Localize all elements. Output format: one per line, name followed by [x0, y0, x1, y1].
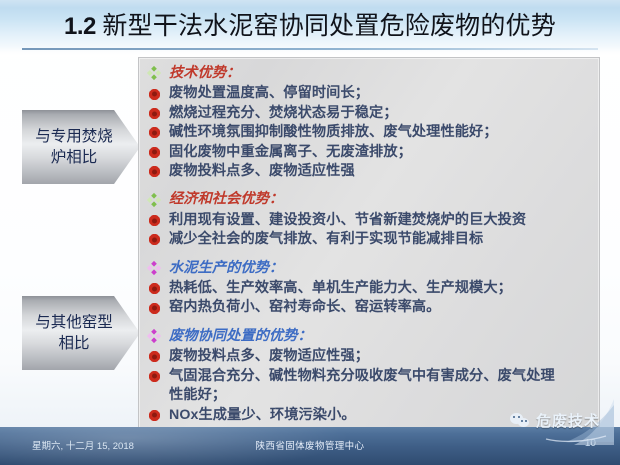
- list-item: 利用现有设置、建设投资小、节省新建焚烧炉的巨大投资: [139, 211, 599, 230]
- magenta-diamond-icon: [147, 329, 161, 343]
- wechat-icon: [510, 413, 531, 429]
- red-flower-bullet-icon: [148, 350, 161, 363]
- list-item-label: 气固混合充分、碱性物料充分吸收废气中有害成分、废气处理: [169, 368, 555, 384]
- red-flower-bullet-icon: [148, 302, 161, 315]
- red-flower-bullet-icon: [148, 107, 161, 120]
- section-heading-cement-production: 水泥生产的优势：: [139, 257, 599, 279]
- section-heading-economic-social: 经济和社会优势：: [139, 188, 599, 210]
- brand-text: 危废技术: [536, 410, 600, 431]
- callout-line-1: 与专用焚烧: [35, 126, 113, 147]
- list-item-label: 燃烧过程充分、焚烧状态易于稳定；: [169, 105, 398, 121]
- list-item: 固化废物中重金属离子、无废渣排放；: [139, 143, 599, 162]
- list-item-label: 窑内热负荷小、窑衬寿命长、窑运转率高。: [169, 299, 440, 315]
- title-text: 新型干法水泥窑协同处置危险废物的优势: [102, 13, 556, 40]
- list-item-label: 性能好；: [169, 387, 226, 403]
- brand-watermark: 危废技术: [488, 399, 614, 445]
- red-flower-bullet-icon: [148, 409, 161, 422]
- list-item: 废物处置温度高、停留时间长；: [139, 84, 599, 103]
- list-item-label: 生成量少、环境污染小。: [198, 407, 355, 423]
- list-item: 热耗低、生产效率高、单机生产能力大、生产规模大；: [139, 279, 599, 298]
- list-item-label: 碱性环境氛围抑制酸性物质排放、废气处理性能好；: [169, 124, 498, 140]
- section-heading-co-processing: 废物协同处置的优势：: [139, 325, 599, 347]
- red-flower-bullet-icon: [148, 370, 161, 383]
- callout-line-2: 相比: [58, 333, 89, 354]
- list-item-label: 固化废物中重金属离子、无废渣排放；: [169, 144, 412, 160]
- callout-compare-kiln-types[interactable]: 与其他窑型 相比: [22, 296, 140, 370]
- red-flower-bullet-icon: [148, 165, 161, 178]
- green-diamond-icon: [147, 193, 161, 207]
- list-item: 减少全社会的废气排放、有利于实现节能减排目标: [139, 230, 599, 249]
- list-item: 窑内热负荷小、窑衬寿命长、窑运转率高。: [139, 298, 599, 317]
- list-item-label: 废物投料点多、废物适应性强；: [169, 348, 369, 364]
- section-spacer: [139, 318, 599, 325]
- page-title: 1.2 新型干法水泥窑协同处置危险废物的优势: [0, 10, 620, 44]
- red-flower-bullet-icon: [148, 282, 161, 295]
- list-item: 气固混合充分、碱性物料充分吸收废气中有害成分、废气处理: [139, 367, 599, 386]
- presentation-slide: 1.2 新型干法水泥窑协同处置危险废物的优势 与专用焚烧 炉相比 与其他窑型 相…: [0, 0, 620, 465]
- green-diamond-icon: [147, 66, 161, 80]
- section-heading-label: 水泥生产的优势：: [169, 260, 283, 276]
- list-item: 废物投料点多、废物适应性强: [139, 162, 599, 181]
- callout-line-2: 炉相比: [51, 147, 98, 168]
- section-spacer: [139, 181, 599, 188]
- section-spacer: [139, 250, 599, 257]
- list-item-label-prefix: NOx: [169, 407, 198, 423]
- magenta-diamond-icon: [147, 261, 161, 275]
- list-item-label: 减少全社会的废气排放、有利于实现节能减排目标: [169, 231, 483, 247]
- section-heading-label: 废物协同处置的优势：: [169, 328, 312, 344]
- section-heading-label: 经济和社会优势：: [169, 191, 283, 207]
- list-item: 燃烧过程充分、焚烧状态易于稳定；: [139, 104, 599, 123]
- content-panel: 技术优势： 废物处置温度高、停留时间长； 燃烧过程充分、焚烧状态易于稳定； 碱性…: [138, 57, 600, 438]
- red-flower-bullet-icon: [148, 126, 161, 139]
- list-item-label: 热耗低、生产效率高、单机生产能力大、生产规模大；: [169, 280, 512, 296]
- red-flower-bullet-icon: [148, 233, 161, 246]
- callout-compare-incinerator[interactable]: 与专用焚烧 炉相比: [22, 110, 140, 184]
- callout-line-1: 与其他窑型: [35, 312, 113, 333]
- red-flower-bullet-icon: [148, 214, 161, 227]
- title-number: 1.2: [64, 13, 96, 40]
- brand-lockup: 危废技术: [510, 410, 600, 431]
- title-underline-rule: [22, 48, 598, 50]
- list-item-label: 废物处置温度高、停留时间长；: [169, 85, 369, 101]
- red-flower-bullet-icon: [148, 88, 161, 101]
- section-heading-label: 技术优势：: [169, 65, 240, 81]
- list-item: 废物投料点多、废物适应性强；: [139, 347, 599, 366]
- red-flower-bullet-icon: [148, 146, 161, 159]
- list-item-label: 废物投料点多、废物适应性强: [169, 163, 355, 179]
- list-item-label: 利用现有设置、建设投资小、节省新建焚烧炉的巨大投资: [169, 212, 526, 228]
- section-heading-technical: 技术优势：: [139, 62, 599, 84]
- list-item: 碱性环境氛围抑制酸性物质排放、废气处理性能好；: [139, 123, 599, 142]
